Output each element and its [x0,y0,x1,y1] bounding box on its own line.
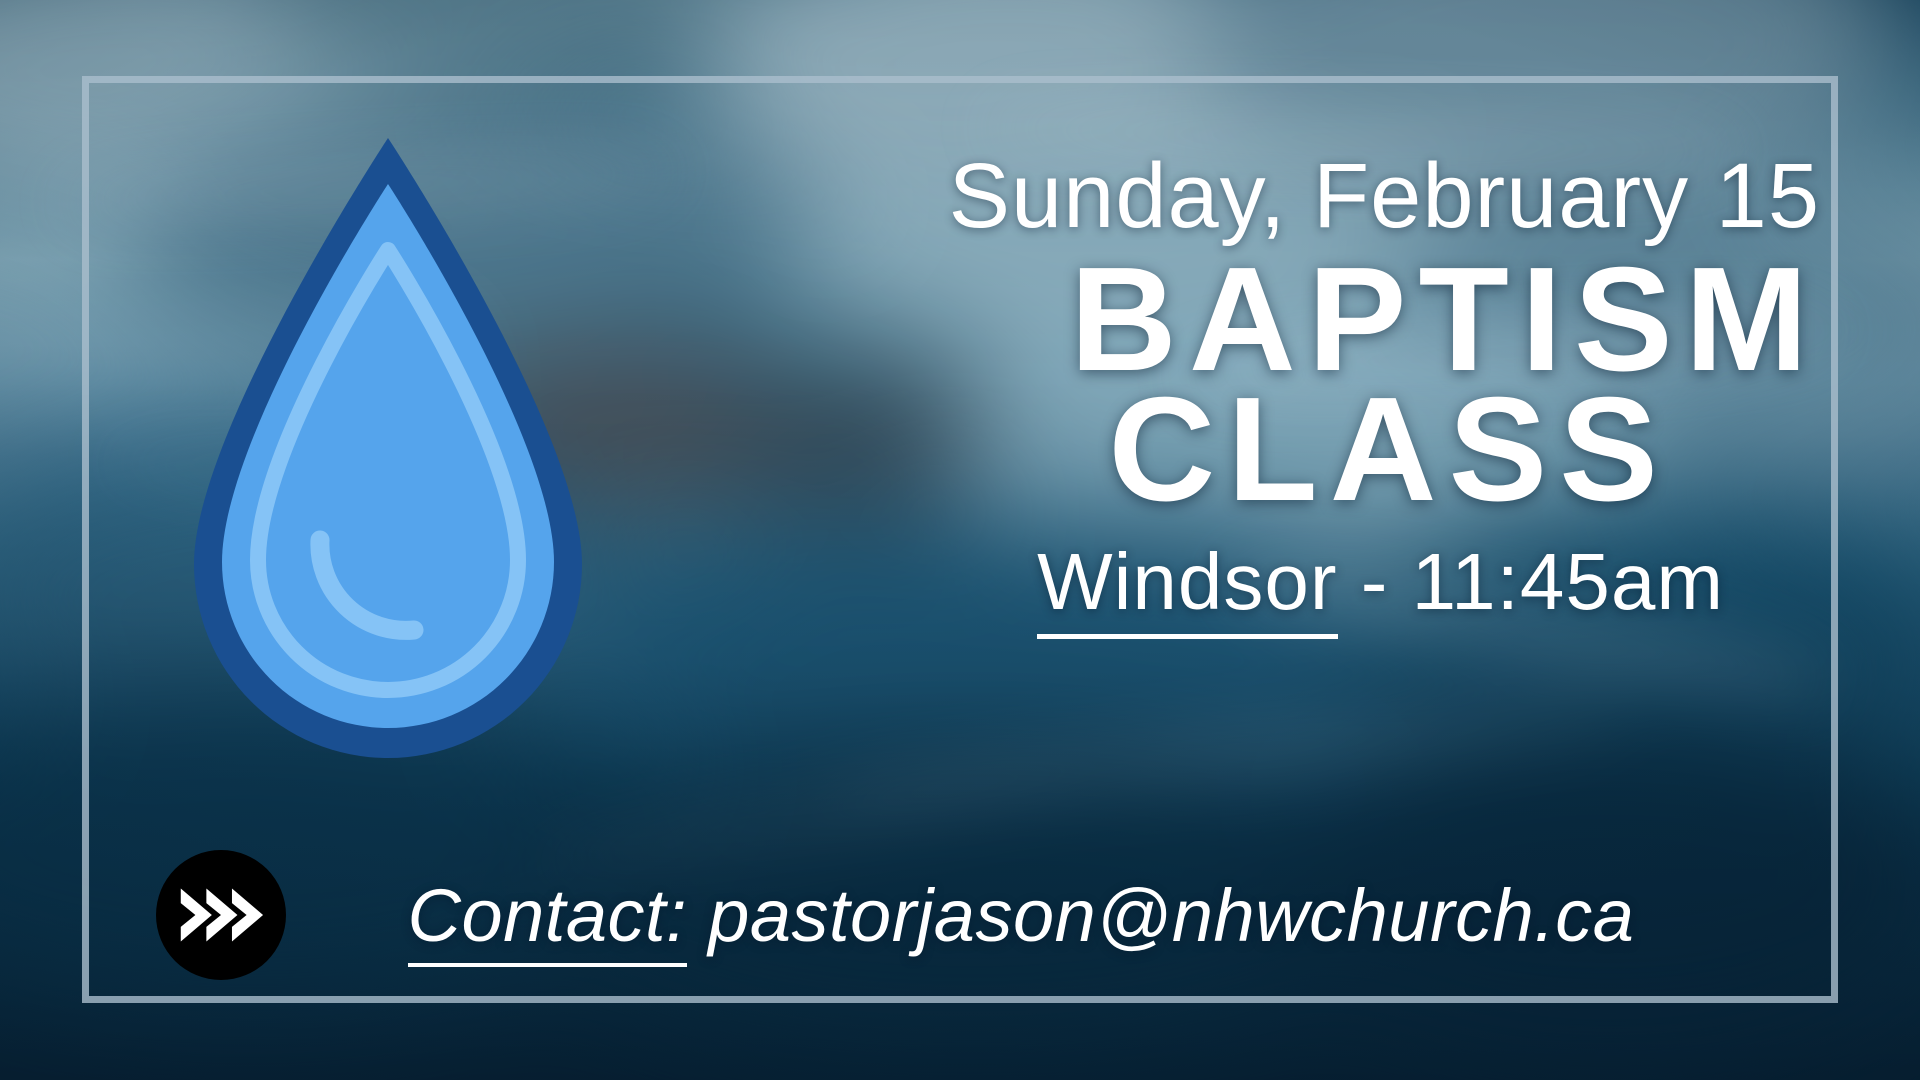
location-label: Windsor [1037,537,1337,639]
contact-email: pastorjason@nhwchurch.ca [708,874,1634,957]
contact-label: Contact: [408,874,688,967]
location-time-line: Windsor - 11:45am [520,540,1820,624]
slide-canvas: Sunday, February 15 BAPTISM CLASS Windso… [0,0,1920,1080]
chevrons-right-icon [156,850,286,980]
contact-line: Contact: pastorjason@nhwchurch.ca [286,873,1796,958]
event-time: 11:45am [1412,537,1724,626]
headline-block: Sunday, February 15 BAPTISM CLASS Windso… [520,150,1820,624]
title-line-class: CLASS [520,382,1820,518]
event-date: Sunday, February 15 [520,150,1820,244]
contact-row: Contact: pastorjason@nhwchurch.ca [156,845,1796,985]
location-time-separator: - [1338,537,1412,626]
